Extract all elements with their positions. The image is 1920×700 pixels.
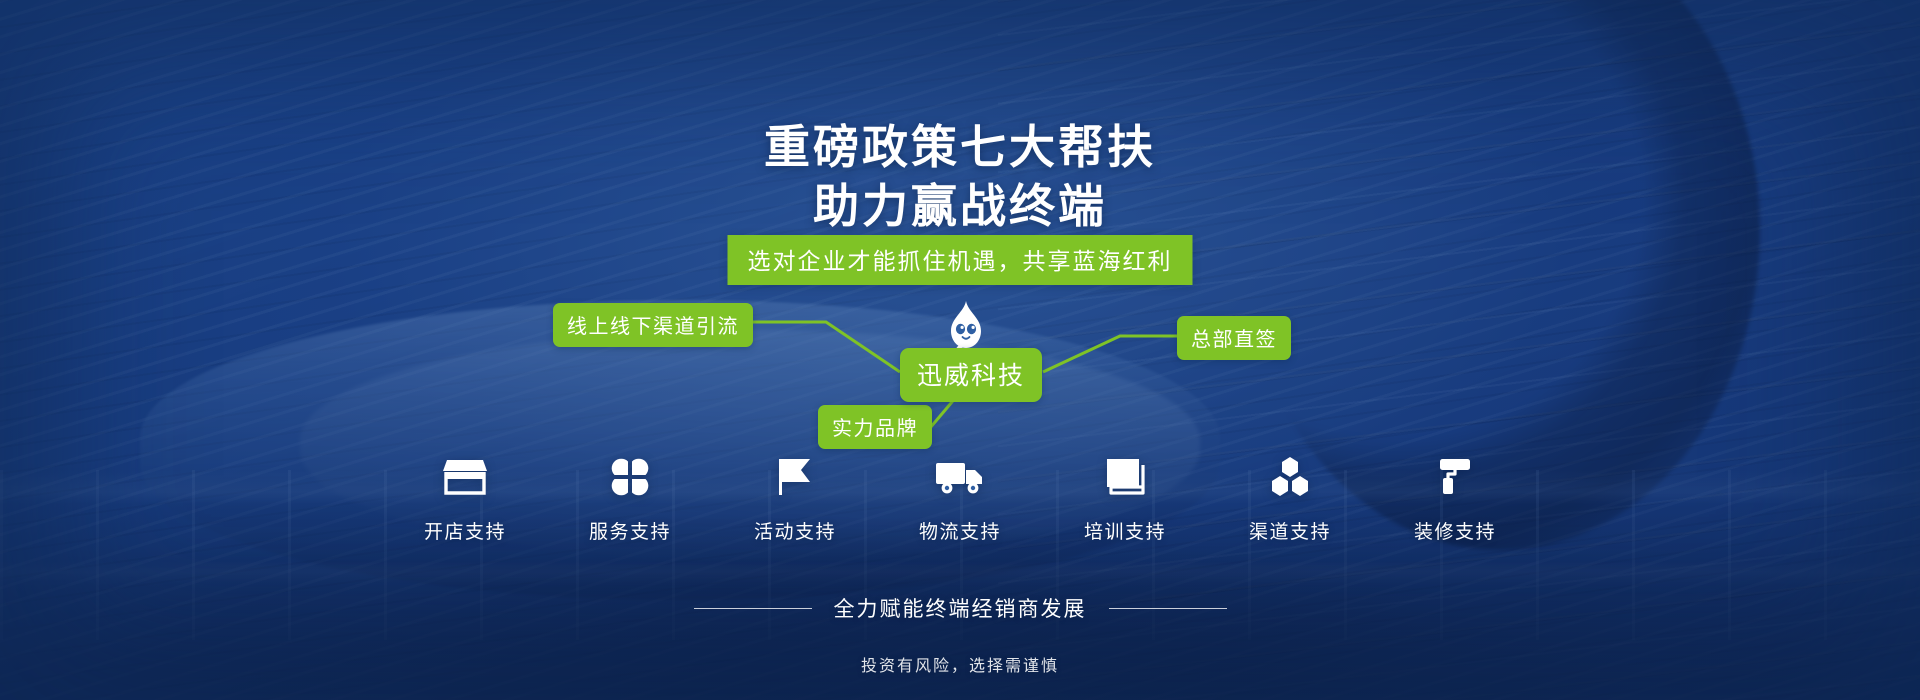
support-item-channel[interactable]: 渠道支持	[1208, 455, 1373, 544]
paint-roller-icon	[1434, 455, 1476, 499]
tag-online-offline-channel[interactable]: 线上线下渠道引流	[553, 303, 753, 347]
tagline-row: 全力赋能终端经销商发展	[0, 593, 1920, 623]
disclaimer: 投资有风险，选择需谨慎	[0, 652, 1920, 676]
support-item-store[interactable]: 开店支持	[383, 455, 548, 544]
book-icon	[1105, 455, 1145, 499]
support-item-activity[interactable]: 活动支持	[713, 455, 878, 544]
hexagon-cluster-icon	[1269, 455, 1311, 499]
storefront-icon	[443, 455, 487, 499]
support-item-label: 培训支持	[1084, 517, 1166, 544]
support-item-label: 物流支持	[919, 517, 1001, 544]
support-item-label: 服务支持	[589, 517, 671, 544]
tagline-rule-left	[694, 608, 812, 609]
support-item-label: 活动支持	[754, 517, 836, 544]
support-item-decoration[interactable]: 装修支持	[1373, 455, 1538, 544]
support-item-label: 装修支持	[1414, 517, 1496, 544]
promo-banner: 重磅政策七大帮扶 助力赢战终端 选对企业才能抓住机遇，共享蓝海红利 线上线下渠道…	[0, 0, 1920, 700]
flag-icon	[774, 455, 816, 499]
support-items-row: 开店支持 服务支持	[0, 455, 1920, 544]
support-item-service[interactable]: 服务支持	[548, 455, 713, 544]
truck-icon	[935, 455, 985, 499]
support-item-label: 渠道支持	[1249, 517, 1331, 544]
tag-company-name[interactable]: 迅威科技	[900, 348, 1042, 402]
support-item-logistics[interactable]: 物流支持	[878, 455, 1043, 544]
support-item-training[interactable]: 培训支持	[1043, 455, 1208, 544]
tagline: 全力赋能终端经销商发展	[834, 593, 1087, 623]
tagline-rule-right	[1109, 608, 1227, 609]
tag-strong-brand[interactable]: 实力品牌	[818, 405, 932, 449]
tag-headquarters-direct-sign[interactable]: 总部直签	[1177, 316, 1291, 360]
clover-icon	[610, 455, 650, 499]
support-item-label: 开店支持	[424, 517, 506, 544]
